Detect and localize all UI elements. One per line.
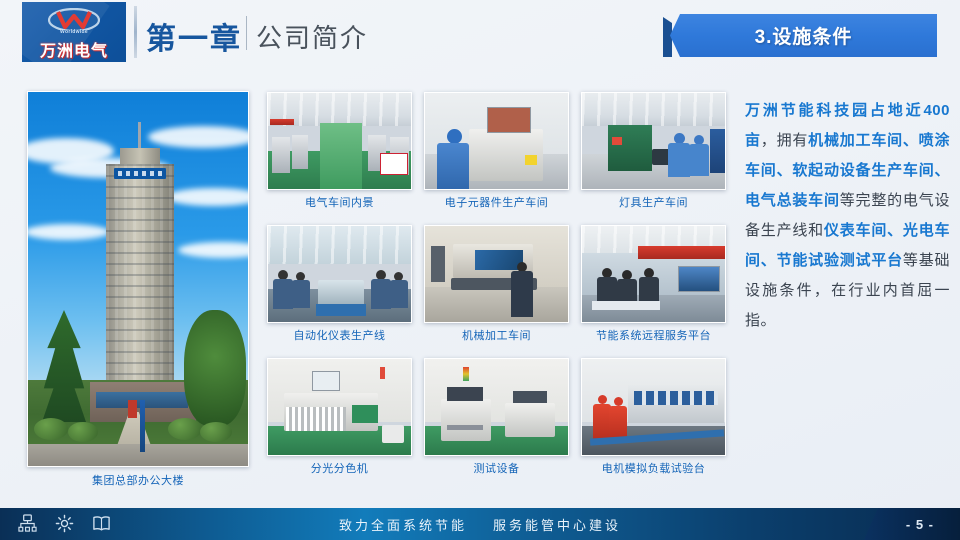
- photo-spectrophotometric-sorter[interactable]: [267, 358, 412, 456]
- caption-photo-9: 电机模拟负载试验台: [581, 460, 726, 476]
- description-text: 万洲节能科技园占地近400亩，拥有机械加工车间、喷涂车间、软起动设备生产车间、电…: [745, 96, 950, 336]
- caption-photo-5: 机械加工车间: [424, 327, 569, 343]
- caption-photo-8: 测试设备: [424, 460, 569, 476]
- page-number: - 5 -: [906, 508, 934, 540]
- caption-photo-7: 分光分色机: [267, 460, 412, 476]
- caption-photo-2: 电子元器件生产车间: [424, 194, 569, 210]
- photo-lamp-production-workshop[interactable]: [581, 92, 726, 190]
- building-windows: [106, 164, 174, 414]
- photo-electronic-components-workshop[interactable]: [424, 92, 569, 190]
- logo-chinese-text: 万洲电气: [22, 37, 126, 61]
- slide-footer: 致力全面系统节能 服务能管中心建设 - 5 -: [0, 508, 960, 540]
- photo-machining-workshop[interactable]: [424, 225, 569, 323]
- caption-photo-3: 灯具生产车间: [581, 194, 726, 210]
- building-tower: [106, 164, 174, 414]
- red-sign: [128, 400, 137, 418]
- banner-body: 3.设施条件: [670, 14, 937, 57]
- banner-fold: [663, 17, 672, 57]
- company-logo[interactable]: Worldwide 万洲电气: [22, 2, 126, 62]
- title-separator: [246, 16, 247, 50]
- caption-photo-4: 自动化仪表生产线: [267, 327, 412, 343]
- text-segment-2: ，拥有: [761, 132, 808, 149]
- building-spire: [138, 122, 141, 150]
- footer-slogan-right: 服务能管中心建设: [493, 515, 621, 534]
- caption-photo-1: 电气车间内景: [267, 194, 412, 210]
- photo-motor-load-test-bench[interactable]: [581, 358, 726, 456]
- header-divider: [134, 6, 137, 58]
- section-banner: 3.设施条件: [663, 14, 937, 57]
- right-tree: [184, 310, 246, 426]
- page-subtitle: 公司简介: [256, 18, 368, 55]
- flag-pole: [140, 400, 145, 452]
- photo-remote-service-platform[interactable]: [581, 225, 726, 323]
- slide-header: Worldwide 万洲电气 第一章 公司简介 3.设施条件: [0, 0, 960, 78]
- worldwide-emblem-icon: [48, 8, 100, 30]
- banner-label: 3.设施条件: [755, 22, 853, 49]
- chapter-title: 第一章: [146, 14, 242, 58]
- photo-headquarters-building[interactable]: [27, 91, 249, 467]
- building-signage: [114, 168, 166, 179]
- photo-test-equipment[interactable]: [424, 358, 569, 456]
- photo-automation-instrument-line[interactable]: [267, 225, 412, 323]
- caption-headquarters-building: 集团总部办公大楼: [27, 472, 249, 488]
- text-segment-0: 万洲节能科技园: [745, 102, 870, 119]
- caption-photo-6: 节能系统远程服务平台: [581, 327, 726, 343]
- road: [28, 444, 249, 466]
- logo-latin-text: Worldwide: [22, 29, 126, 35]
- footer-slogan: 致力全面系统节能 服务能管中心建设: [0, 508, 960, 540]
- photo-electrical-workshop[interactable]: [267, 92, 412, 190]
- footer-slogan-left: 致力全面系统节能: [339, 515, 467, 534]
